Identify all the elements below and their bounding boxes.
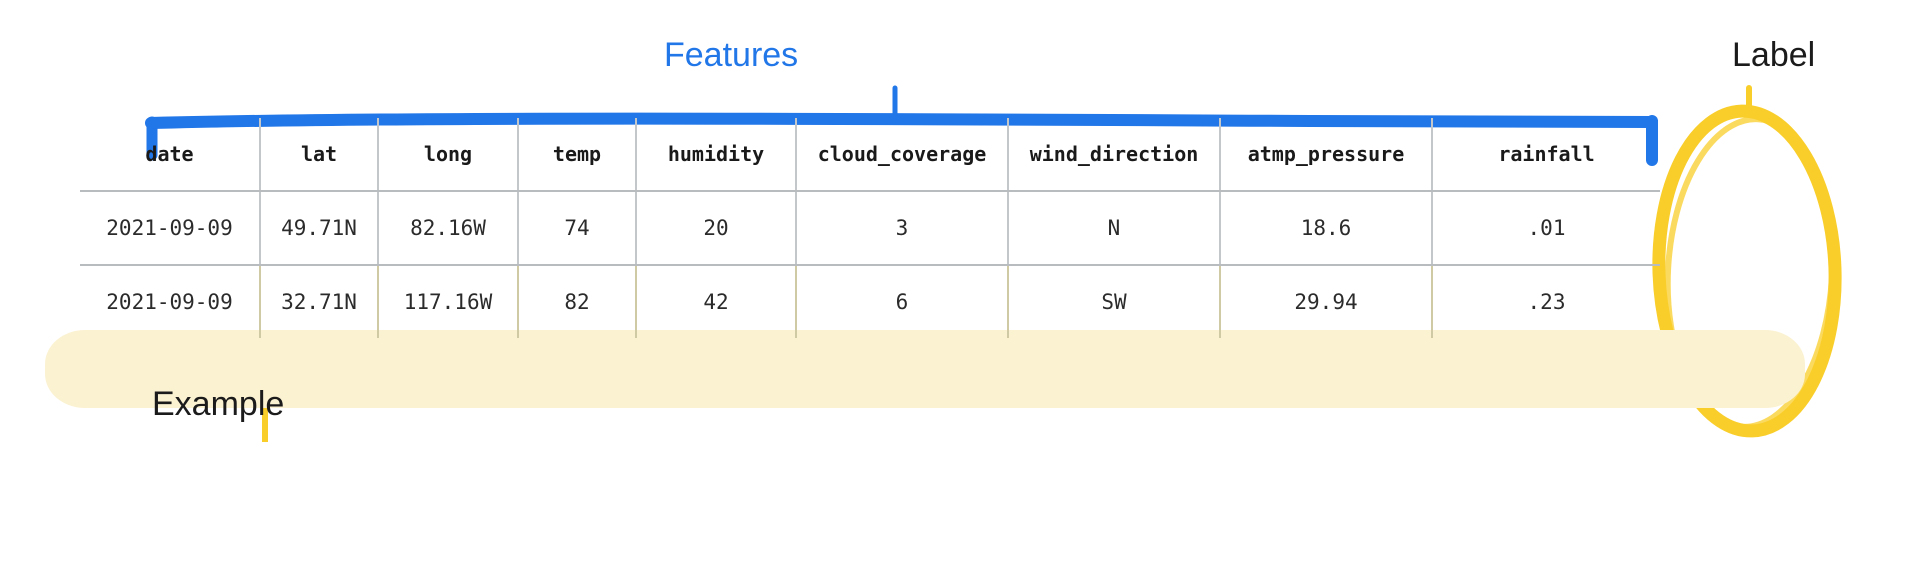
cell-atmp-pressure: 18.6 [1220, 191, 1432, 265]
cell-atmp-pressure: 29.94 [1220, 265, 1432, 338]
cell-humidity: 20 [636, 191, 796, 265]
column-header-date: date [80, 118, 260, 191]
diagram-canvas: date lat long temp humidity cloud_covera… [0, 0, 1920, 576]
cell-temp: 82 [518, 265, 636, 338]
annotation-label-example: Example [152, 385, 284, 424]
table-row: 2021-09-09 32.71N 117.16W 82 42 6 SW 29.… [80, 265, 1660, 338]
cell-humidity: 42 [636, 265, 796, 338]
table-row: 2021-09-09 49.71N 82.16W 74 20 3 N 18.6 … [80, 191, 1660, 265]
column-header-atmp-pressure: atmp_pressure [1220, 118, 1432, 191]
column-header-cloud-coverage: cloud_coverage [796, 118, 1008, 191]
example-row-highlight [45, 330, 1805, 408]
dataset-table: date lat long temp humidity cloud_covera… [80, 118, 1660, 338]
cell-cloud-coverage: 3 [796, 191, 1008, 265]
column-header-temp: temp [518, 118, 636, 191]
cell-temp: 74 [518, 191, 636, 265]
annotation-label-features: Features [664, 36, 798, 75]
cell-rainfall: .01 [1432, 191, 1660, 265]
cell-rainfall: .23 [1432, 265, 1660, 338]
cell-lat: 49.71N [260, 191, 378, 265]
cell-long: 117.16W [378, 265, 518, 338]
cell-cloud-coverage: 6 [796, 265, 1008, 338]
cell-wind-direction: SW [1008, 265, 1220, 338]
dataset-table-container: date lat long temp humidity cloud_covera… [80, 118, 1660, 338]
table-header-row: date lat long temp humidity cloud_covera… [80, 118, 1660, 191]
cell-date: 2021-09-09 [80, 191, 260, 265]
cell-date: 2021-09-09 [80, 265, 260, 338]
column-header-humidity: humidity [636, 118, 796, 191]
cell-lat: 32.71N [260, 265, 378, 338]
column-header-wind-direction: wind_direction [1008, 118, 1220, 191]
cell-wind-direction: N [1008, 191, 1220, 265]
cell-long: 82.16W [378, 191, 518, 265]
annotation-label-label: Label [1732, 36, 1815, 75]
column-header-lat: lat [260, 118, 378, 191]
column-header-rainfall: rainfall [1432, 118, 1660, 191]
column-header-long: long [378, 118, 518, 191]
